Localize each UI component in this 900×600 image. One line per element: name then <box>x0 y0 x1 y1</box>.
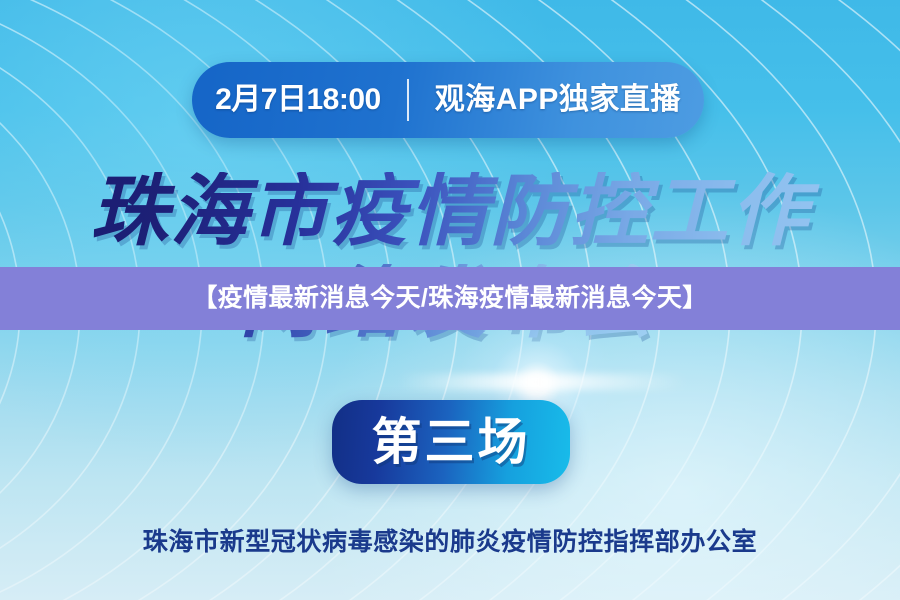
live-banner-channel: 观海APP独家直播 <box>409 85 689 115</box>
poster-canvas: 2月7日18:00 观海APP独家直播 珠海市疫情防控工作 网络发布会 【疫情最… <box>0 0 900 600</box>
session-badge-label: 第三场 <box>372 417 531 467</box>
issuer-block: 珠海市新型冠状病毒感染的肺炎疫情防控指挥部办公室 <box>0 530 900 555</box>
overlay-title-band: 【疫情最新消息今天/珠海疫情最新消息今天】 <box>0 267 900 330</box>
live-banner-pill[interactable]: 2月7日18:00 观海APP独家直播 <box>192 62 704 138</box>
session-badge: 第三场 <box>332 400 570 484</box>
lens-flare-streak <box>398 374 688 390</box>
live-banner-datetime: 2月7日18:00 <box>207 85 407 115</box>
issuer-text: 珠海市新型冠状病毒感染的肺炎疫情防控指挥部办公室 <box>143 528 757 556</box>
overlay-title-text: 【疫情最新消息今天/珠海疫情最新消息今天】 <box>192 286 707 311</box>
headline-line-1: 珠海市疫情防控工作 <box>0 172 900 252</box>
